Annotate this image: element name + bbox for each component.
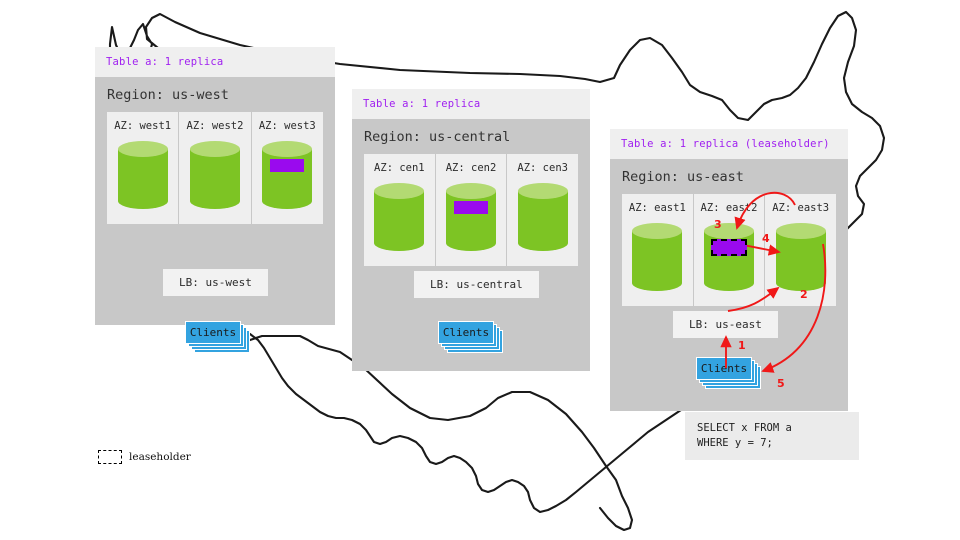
az-label-cen1: AZ: cen1: [374, 162, 425, 174]
region-panel-us-west: Table a: 1 replica Region: us-west AZ: w…: [95, 47, 335, 325]
region-panel-us-central: Table a: 1 replica Region: us-central AZ…: [352, 89, 590, 371]
region-panel-us-east: Table a: 1 replica (leaseholder) Region:…: [610, 129, 848, 411]
panel-header-us-east: Table a: 1 replica (leaseholder): [610, 129, 848, 159]
az-cell-west1[interactable]: AZ: west1: [107, 112, 179, 224]
arrow-label-5: 5: [777, 377, 785, 390]
cylinder-top: [632, 223, 682, 239]
node-cylinder-west3[interactable]: [262, 141, 312, 209]
load-balancer-us-east[interactable]: LB: us-east: [673, 311, 778, 338]
clients-stack-us-west[interactable]: Clients: [185, 321, 247, 351]
cylinder-top: [704, 223, 754, 239]
az-label-east3: AZ: east3: [772, 202, 829, 214]
cylinder-top: [518, 183, 568, 199]
leaseholder-marker-east2[interactable]: [711, 239, 747, 256]
dashed-rectangle-icon: [98, 450, 122, 464]
cylinder-top: [262, 141, 312, 157]
node-cylinder-east2[interactable]: [704, 223, 754, 291]
clients-stack-us-central[interactable]: Clients: [438, 321, 500, 351]
node-cylinder-cen1[interactable]: [374, 183, 424, 251]
az-label-cen2: AZ: cen2: [446, 162, 497, 174]
az-row-us-central: AZ: cen1 AZ: cen2 AZ: cen3: [364, 154, 578, 266]
arrow-label-1: 1: [738, 339, 746, 352]
node-cylinder-west1[interactable]: [118, 141, 168, 209]
az-label-west2: AZ: west2: [187, 120, 244, 132]
node-cylinder-east1[interactable]: [632, 223, 682, 291]
node-cylinder-cen3[interactable]: [518, 183, 568, 251]
replica-marker-cen2[interactable]: [454, 201, 488, 214]
az-cell-cen2[interactable]: AZ: cen2: [436, 154, 508, 266]
node-cylinder-east3[interactable]: [776, 223, 826, 291]
panel-header-us-central: Table a: 1 replica: [352, 89, 590, 119]
cylinder-top: [118, 141, 168, 157]
clients-button-us-west[interactable]: Clients: [185, 321, 241, 344]
region-title-us-east: Region: us-east: [610, 159, 848, 194]
panel-header-us-west: Table a: 1 replica: [95, 47, 335, 77]
arrow-label-3: 3: [714, 218, 722, 231]
arrow-label-2: 2: [800, 288, 808, 301]
cylinder-top: [776, 223, 826, 239]
az-label-west3: AZ: west3: [259, 120, 316, 132]
az-cell-west2[interactable]: AZ: west2: [179, 112, 251, 224]
az-cell-east2[interactable]: AZ: east2: [694, 194, 766, 306]
legend-leaseholder: leaseholder: [98, 450, 191, 464]
arrow-label-4: 4: [762, 232, 770, 245]
az-row-us-west: AZ: west1 AZ: west2 AZ: west3: [107, 112, 323, 224]
az-cell-east1[interactable]: AZ: east1: [622, 194, 694, 306]
cylinder-top: [374, 183, 424, 199]
az-label-east1: AZ: east1: [629, 202, 686, 214]
az-label-west1: AZ: west1: [114, 120, 171, 132]
az-cell-cen3[interactable]: AZ: cen3: [507, 154, 578, 266]
node-cylinder-cen2[interactable]: [446, 183, 496, 251]
clients-stack-us-east[interactable]: Clients: [696, 357, 758, 387]
clients-button-us-central[interactable]: Clients: [438, 321, 494, 344]
region-title-us-central: Region: us-central: [352, 119, 590, 154]
region-title-us-west: Region: us-west: [95, 77, 335, 112]
az-label-east2: AZ: east2: [701, 202, 758, 214]
replica-marker-west3[interactable]: [270, 159, 304, 172]
node-cylinder-west2[interactable]: [190, 141, 240, 209]
az-label-cen3: AZ: cen3: [517, 162, 568, 174]
load-balancer-us-central[interactable]: LB: us-central: [414, 271, 539, 298]
load-balancer-us-west[interactable]: LB: us-west: [163, 269, 268, 296]
diagram-canvas: Table a: 1 replica Region: us-west AZ: w…: [0, 0, 960, 540]
cylinder-top: [446, 183, 496, 199]
clients-button-us-east[interactable]: Clients: [696, 357, 752, 380]
cylinder-top: [190, 141, 240, 157]
legend-label: leaseholder: [129, 451, 191, 463]
az-cell-cen1[interactable]: AZ: cen1: [364, 154, 436, 266]
az-cell-west3[interactable]: AZ: west3: [252, 112, 323, 224]
sql-query-box: SELECT x FROM a WHERE y = 7;: [685, 412, 859, 460]
